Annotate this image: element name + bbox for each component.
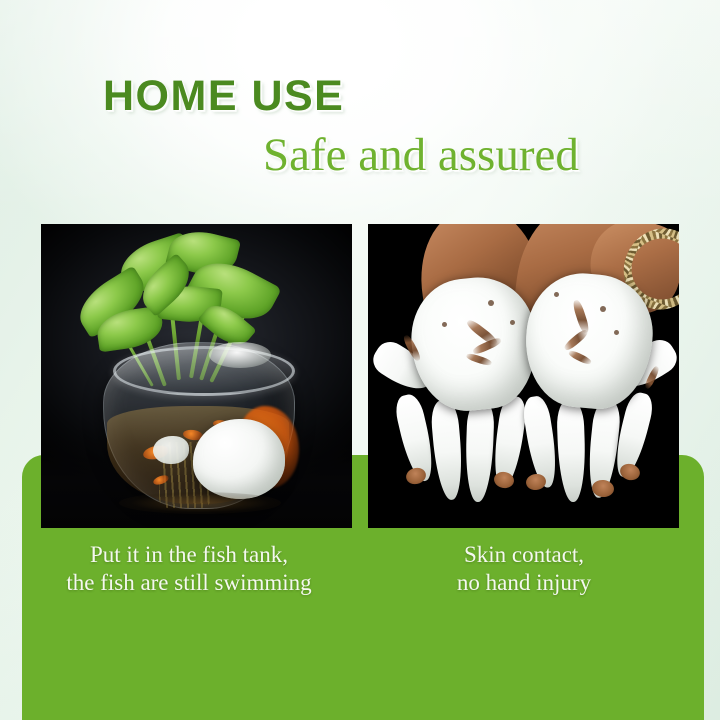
skin-speck xyxy=(600,306,606,312)
skin-speck xyxy=(442,322,447,327)
page-title: HOME USE xyxy=(103,72,344,121)
skin-speck xyxy=(614,330,619,335)
caption-fish-tank: Put it in the fish tank, the fish are st… xyxy=(24,541,354,597)
page-subtitle: Safe and assured xyxy=(263,128,579,182)
photo-hands-scene xyxy=(368,224,679,528)
skin-speck xyxy=(488,300,494,306)
putty-on-rim xyxy=(209,342,271,368)
bowl-base-shadow xyxy=(119,492,281,514)
putty-blob-main xyxy=(193,419,285,499)
caption-skin-contact: Skin contact, no hand injury xyxy=(368,541,680,597)
photo-fish-tank-scene xyxy=(41,224,352,528)
photo-fish-tank xyxy=(41,224,352,528)
skin-speck xyxy=(510,320,515,325)
putty-blob-small xyxy=(153,436,189,464)
poster-canvas: HOME USE Safe and assured xyxy=(0,0,720,720)
photo-hands xyxy=(368,224,679,528)
skin-speck xyxy=(554,292,559,297)
